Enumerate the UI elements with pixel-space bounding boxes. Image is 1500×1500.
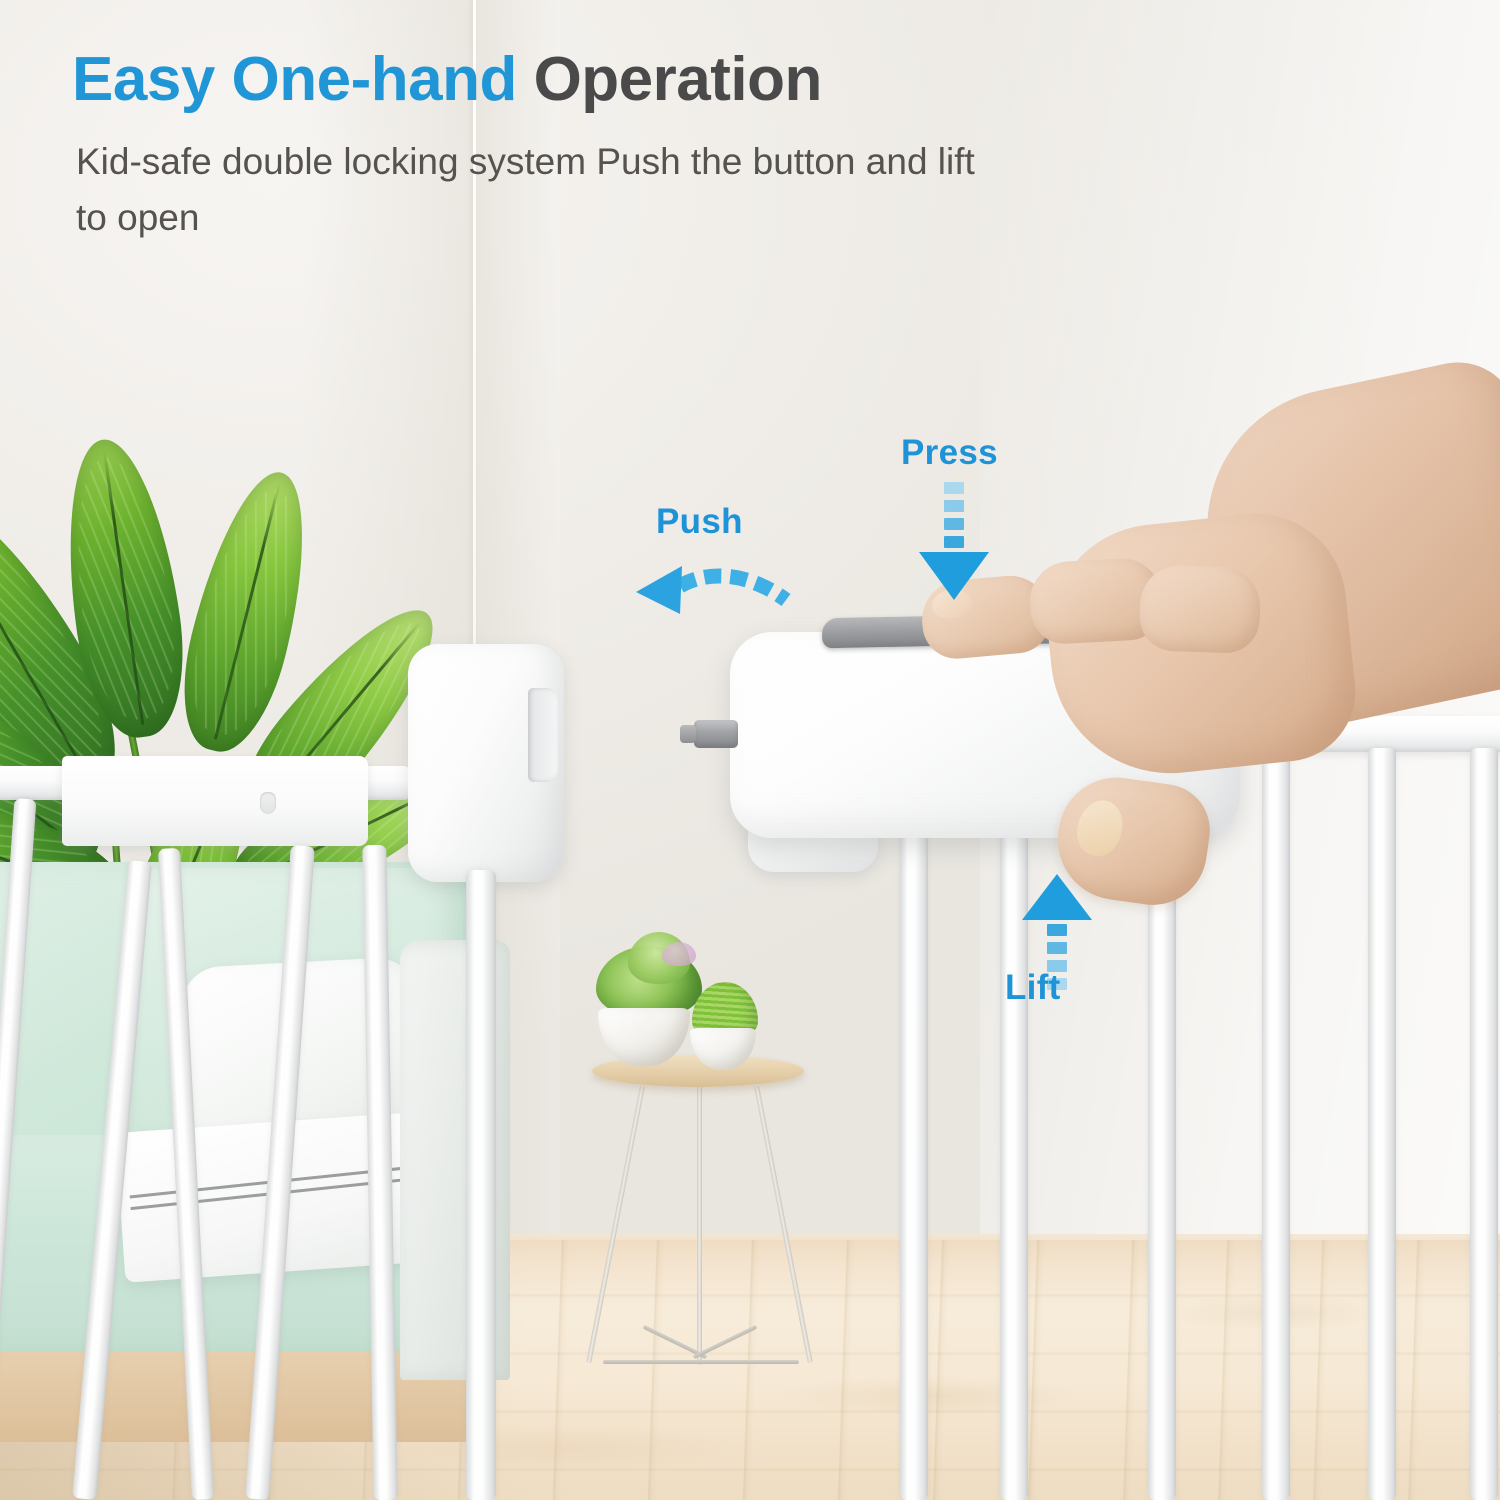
table-foot-rail (603, 1360, 799, 1364)
page-title-rest: Operation (534, 45, 822, 114)
gate-bar (1148, 800, 1176, 1500)
callout-label-lift: Lift (1005, 968, 1061, 1008)
product-feature-image: Easy One-hand Operation Kid-safe double … (0, 0, 1500, 1500)
page-title-highlight: Easy One-hand (72, 45, 534, 114)
gate-frame-bracket (62, 756, 368, 846)
gate-bar (1262, 748, 1290, 1500)
page-subtitle: Kid-safe double locking system Push the … (76, 134, 976, 246)
callout-label-push: Push (656, 502, 743, 542)
gate-post-bar (466, 870, 496, 1500)
latch-locking-pin (694, 720, 738, 748)
press-arrow-icon (905, 480, 1001, 604)
gate-bar (1470, 748, 1498, 1500)
push-arrow-icon (628, 552, 808, 642)
potted-plant-foliage-accent (662, 942, 696, 966)
callout-label-press: Press (901, 433, 998, 473)
ring-finger (1139, 564, 1262, 654)
gate-catch-block (408, 644, 564, 882)
gate-catch-slot (528, 688, 558, 782)
gate-bar (900, 820, 928, 1500)
table-leg (697, 1085, 702, 1365)
gate-bar (1368, 748, 1396, 1500)
page-title: Easy One-hand Operation (72, 44, 822, 115)
